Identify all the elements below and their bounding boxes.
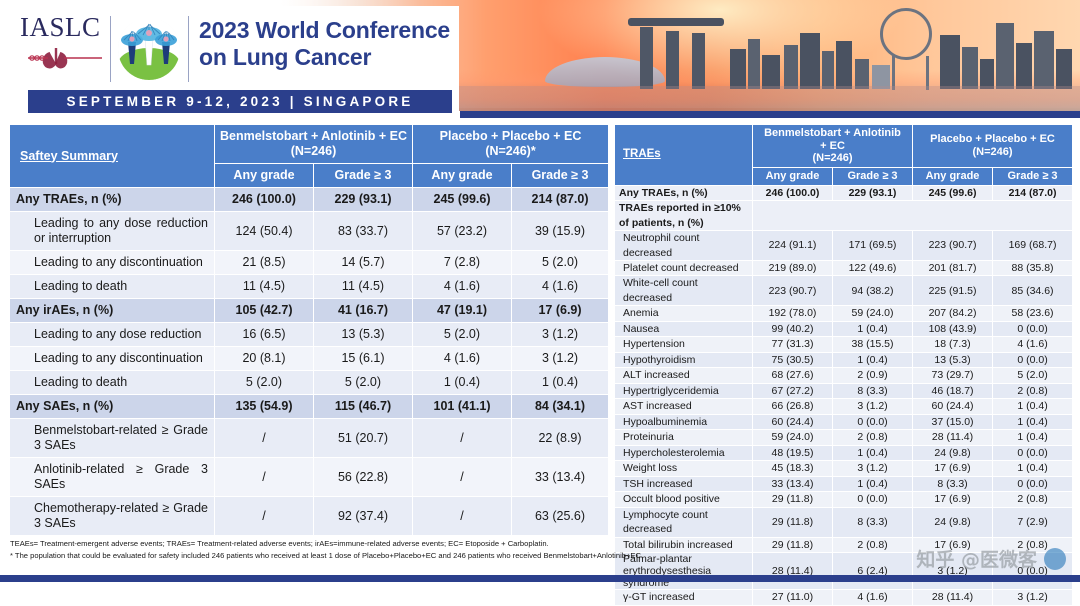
safety-subheader-3: Grade ≥ 3 xyxy=(512,164,609,188)
cell-value: 3 (1.2) xyxy=(512,347,609,371)
cell-value: 56 (22.8) xyxy=(314,458,413,497)
logo-divider-1 xyxy=(110,16,111,82)
cell-value: 20 (8.1) xyxy=(215,347,314,371)
table-row: Leading to death5 (2.0)5 (2.0)1 (0.4)1 (… xyxy=(10,371,609,395)
safety-subheader-2: Any grade xyxy=(413,164,512,188)
cell-value: 4 (1.6) xyxy=(413,275,512,299)
cell-value: 0 (0.0) xyxy=(833,414,913,429)
row-label: Leading to any discontinuation xyxy=(10,347,215,371)
group-label-line2: (N=246) xyxy=(915,146,1070,159)
safety-summary-tbody: Any TRAEs, n (%)246 (100.0)229 (93.1)245… xyxy=(10,188,609,536)
mbs-tower-2 xyxy=(666,31,679,89)
logo-lockup: IASLC xyxy=(14,6,459,112)
group-label-line1: Benmelstobart + Anlotinib + EC xyxy=(218,129,409,144)
cell-value: 13 (5.3) xyxy=(314,323,413,347)
iaslc-logo: IASLC xyxy=(20,14,106,84)
cell-value: 246 (100.0) xyxy=(753,185,833,200)
cell-value: 83 (33.7) xyxy=(314,212,413,251)
cell-value: 105 (42.7) xyxy=(215,299,314,323)
cell-value: 8 (3.3) xyxy=(833,507,913,537)
cell-value: 1 (0.4) xyxy=(833,476,913,491)
group-label-line1: Benmelstobart + Anlotinib xyxy=(755,127,910,140)
safety-subheader-1: Grade ≥ 3 xyxy=(314,164,413,188)
row-label: Chemotherapy-related ≥ Grade 3 SAEs xyxy=(10,497,215,536)
row-label: Leading to any discontinuation xyxy=(10,251,215,275)
skyline-building xyxy=(822,51,834,89)
cell-value: 59 (24.0) xyxy=(753,430,833,445)
traes-row-header: TRAEs xyxy=(615,125,753,186)
cell-value: 2 (0.8) xyxy=(993,383,1073,398)
skyline-building xyxy=(980,59,994,89)
skyline-building xyxy=(996,23,1014,89)
conference-title-line1: 2023 World Conference xyxy=(199,17,450,44)
traes-subheader-1: Grade ≥ 3 xyxy=(833,167,913,185)
cell-value: 13 (5.3) xyxy=(913,352,993,367)
cell-value: 224 (91.1) xyxy=(753,231,833,261)
cell-value: 101 (41.1) xyxy=(413,395,512,419)
cell-value: 245 (99.6) xyxy=(913,185,993,200)
cell-value: 7 (2.9) xyxy=(993,507,1073,537)
cell-value: 207 (84.2) xyxy=(913,306,993,321)
row-label: Hypothyroidism xyxy=(615,352,753,367)
iaslc-lung-mark xyxy=(26,44,106,74)
traes-group-benmelstobart: Benmelstobart + Anlotinib + EC (N=246) xyxy=(753,125,913,168)
mbs-skypark xyxy=(628,18,724,26)
cell-value: 77 (31.3) xyxy=(753,337,833,352)
conference-title: 2023 World Conference on Lung Cancer xyxy=(199,17,450,70)
row-label: Hypoalbuminemia xyxy=(615,414,753,429)
skyline-building xyxy=(800,33,820,89)
table-row: Leading to death11 (4.5)11 (4.5)4 (1.6)4… xyxy=(10,275,609,299)
cell-value: 214 (87.0) xyxy=(512,188,609,212)
cell-value: 169 (68.7) xyxy=(993,231,1073,261)
row-label: Hypertriglyceridemia xyxy=(615,383,753,398)
row-label: Occult blood positive xyxy=(615,492,753,507)
cell-value: 2 (0.8) xyxy=(833,430,913,445)
cell-value: 29 (11.8) xyxy=(753,492,833,507)
cell-value: 60 (24.4) xyxy=(753,414,833,429)
cell-value: 75 (30.5) xyxy=(753,352,833,367)
traes-row-header-label: TRAEs xyxy=(623,148,661,160)
cell-value: 11 (4.5) xyxy=(314,275,413,299)
cell-value: 8 (3.3) xyxy=(913,476,993,491)
table-row: Platelet count decreased219 (89.0)122 (4… xyxy=(615,260,1073,275)
cell-value: 135 (54.9) xyxy=(215,395,314,419)
cell-value: 5 (2.0) xyxy=(413,323,512,347)
safety-summary-group-placebo: Placebo + Placebo + EC (N=246)* xyxy=(413,125,609,164)
skyline-building xyxy=(748,39,760,89)
cell-value: 108 (43.9) xyxy=(913,321,993,336)
row-label: TRAEs reported in ≥10% of patients, n (%… xyxy=(615,201,753,231)
safety-summary-row-header: Saftey Summary xyxy=(10,125,215,188)
row-label: Leading to death xyxy=(10,371,215,395)
table-row: Leading to any discontinuation20 (8.1)15… xyxy=(10,347,609,371)
cell-value: 18 (7.3) xyxy=(913,337,993,352)
skyline-building xyxy=(836,41,852,89)
cell-value: 2 (0.8) xyxy=(993,492,1073,507)
cell-value: 67 (27.2) xyxy=(753,383,833,398)
cell-value: 33 (13.4) xyxy=(753,476,833,491)
cell-value: 4 (1.6) xyxy=(833,590,913,605)
table-row: ALT increased68 (27.6)2 (0.9)73 (29.7)5 … xyxy=(615,368,1073,383)
flyer-leg xyxy=(892,56,895,90)
cell-value: 4 (1.6) xyxy=(512,275,609,299)
cell-value: / xyxy=(413,419,512,458)
table-row: AST increased66 (26.8)3 (1.2)60 (24.4)1 … xyxy=(615,399,1073,414)
cell-value: 37 (15.0) xyxy=(913,414,993,429)
iaslc-acronym: IASLC xyxy=(20,14,106,41)
row-label: TSH increased xyxy=(615,476,753,491)
singapore-flyer-icon xyxy=(880,8,932,60)
row-label: Benmelstobart-related ≥ Grade 3 SAEs xyxy=(10,419,215,458)
cell-value: 16 (6.5) xyxy=(215,323,314,347)
cell-value: 3 (1.2) xyxy=(512,323,609,347)
cell-value: 57 (23.2) xyxy=(413,212,512,251)
row-label: Anlotinib-related ≥ Grade 3 SAEs xyxy=(10,458,215,497)
cell-value: 68 (27.6) xyxy=(753,368,833,383)
row-label: Platelet count decreased xyxy=(615,260,753,275)
cell-value: 4 (1.6) xyxy=(993,337,1073,352)
cell-value: 1 (0.4) xyxy=(833,352,913,367)
table-row: Any TRAEs, n (%)246 (100.0)229 (93.1)245… xyxy=(10,188,609,212)
row-label: Anemia xyxy=(615,306,753,321)
cell-value: 0 (0.0) xyxy=(993,445,1073,460)
cell-value: 0 (0.0) xyxy=(993,476,1073,491)
row-label: AST increased xyxy=(615,399,753,414)
cell-value: 45 (18.3) xyxy=(753,461,833,476)
page-bottom-rule xyxy=(0,575,1080,582)
cell-value: 22 (8.9) xyxy=(512,419,609,458)
cell-value: 94 (38.2) xyxy=(833,276,913,306)
table-row: Any irAEs, n (%)105 (42.7)41 (16.7)47 (1… xyxy=(10,299,609,323)
group-label-line3: (N=246) xyxy=(755,152,910,165)
table-row: Hypercholesterolemia48 (19.5)1 (0.4)24 (… xyxy=(615,445,1073,460)
traes-group-header-row: TRAEs Benmelstobart + Anlotinib + EC (N=… xyxy=(615,125,1073,168)
group-label-line1: Placebo + Placebo + EC xyxy=(416,129,605,144)
group-label-line2: (N=246) xyxy=(218,144,409,159)
table-row: Benmelstobart-related ≥ Grade 3 SAEs/51 … xyxy=(10,419,609,458)
row-label: Hypercholesterolemia xyxy=(615,445,753,460)
cell-value: 229 (93.1) xyxy=(314,188,413,212)
cell-value: 28 (11.4) xyxy=(913,430,993,445)
conference-title-line2: on Lung Cancer xyxy=(199,44,450,71)
cell-value: / xyxy=(215,458,314,497)
cell-value: 122 (49.6) xyxy=(833,260,913,275)
skyline-building xyxy=(1016,43,1032,89)
skyline-building xyxy=(1056,49,1072,89)
row-label: Lymphocyte count decreased xyxy=(615,507,753,537)
row-label: Proteinuria xyxy=(615,430,753,445)
cell-value: 1 (0.4) xyxy=(833,445,913,460)
cell-value: 115 (46.7) xyxy=(314,395,413,419)
row-label: γ-GT increased xyxy=(615,590,753,605)
cell-value: 8 (3.3) xyxy=(833,383,913,398)
skyline-building xyxy=(762,55,780,89)
cell-value: 1 (0.4) xyxy=(833,321,913,336)
cell-value: 60 (24.4) xyxy=(913,399,993,414)
row-label: Hypertension xyxy=(615,337,753,352)
cell-value: 5 (2.0) xyxy=(993,368,1073,383)
group-label-line1: Placebo + Placebo + EC xyxy=(915,133,1070,146)
cell-value: 1 (0.4) xyxy=(512,371,609,395)
cell-value: 15 (6.1) xyxy=(314,347,413,371)
footnote-population: * The population that could be evaluated… xyxy=(10,550,1070,562)
cell-value: 5 (2.0) xyxy=(512,251,609,275)
cell-value: 48 (19.5) xyxy=(753,445,833,460)
cell-value: 51 (20.7) xyxy=(314,419,413,458)
cell-value: 0 (0.0) xyxy=(993,352,1073,367)
group-label-line2: (N=246)* xyxy=(416,144,605,159)
cell-value: 41 (16.7) xyxy=(314,299,413,323)
cell-value: 17 (6.9) xyxy=(913,492,993,507)
skyline-building xyxy=(784,45,798,89)
table-row: Hypertriglyceridemia67 (27.2)8 (3.3)46 (… xyxy=(615,383,1073,398)
cell-value: 88 (35.8) xyxy=(993,260,1073,275)
safety-summary-table: Saftey Summary Benmelstobart + Anlotinib… xyxy=(9,124,609,536)
table-row: TRAEs reported in ≥10% of patients, n (%… xyxy=(615,201,1073,231)
safety-summary-row-header-label: Saftey Summary xyxy=(20,149,118,163)
cell-value: 223 (90.7) xyxy=(753,276,833,306)
cell-value: 85 (34.6) xyxy=(993,276,1073,306)
cell-value: 99 (40.2) xyxy=(753,321,833,336)
cell-value: 28 (11.4) xyxy=(913,590,993,605)
row-label: White-cell count decreased xyxy=(615,276,753,306)
cell-value: 63 (25.6) xyxy=(512,497,609,536)
traes-subheader-2: Any grade xyxy=(913,167,993,185)
cell-value: 33 (13.4) xyxy=(512,458,609,497)
table-row: Lymphocyte count decreased29 (11.8)8 (3.… xyxy=(615,507,1073,537)
table-row: Leading to any discontinuation21 (8.5)14… xyxy=(10,251,609,275)
cell-value: 124 (50.4) xyxy=(215,212,314,251)
cell-value: 225 (91.5) xyxy=(913,276,993,306)
cell-value: 229 (93.1) xyxy=(833,185,913,200)
cell-value: 17 (6.9) xyxy=(512,299,609,323)
safety-subheader-0: Any grade xyxy=(215,164,314,188)
tables-region: Saftey Summary Benmelstobart + Anlotinib… xyxy=(0,118,1080,538)
table-row: Anlotinib-related ≥ Grade 3 SAEs/56 (22.… xyxy=(10,458,609,497)
table-row: Any TRAEs, n (%)246 (100.0)229 (93.1)245… xyxy=(615,185,1073,200)
cell-value: 2 (0.9) xyxy=(833,368,913,383)
traes-subheader-0: Any grade xyxy=(753,167,833,185)
skyline-building xyxy=(1034,31,1054,89)
cell-value: 11 (4.5) xyxy=(215,275,314,299)
cell-value: 27 (11.0) xyxy=(753,590,833,605)
cell-value: 38 (15.5) xyxy=(833,337,913,352)
footnote-abbreviations: TEAEs= Treatment-emergent adverse events… xyxy=(10,538,1070,550)
row-label: Any SAEs, n (%) xyxy=(10,395,215,419)
row-label: Any irAEs, n (%) xyxy=(10,299,215,323)
cell-value: 1 (0.4) xyxy=(993,461,1073,476)
skyline-building xyxy=(962,47,978,89)
cell-value: 5 (2.0) xyxy=(314,371,413,395)
cell-value: 3 (1.2) xyxy=(833,399,913,414)
row-label: Neutrophil count decreased xyxy=(615,231,753,261)
cell-value: 1 (0.4) xyxy=(993,399,1073,414)
cell-value: 39 (15.9) xyxy=(512,212,609,251)
table-row: Nausea99 (40.2)1 (0.4)108 (43.9)0 (0.0) xyxy=(615,321,1073,336)
cell-value: 1 (0.4) xyxy=(993,430,1073,445)
flyer-leg xyxy=(926,56,929,90)
cell-value: 0 (0.0) xyxy=(993,321,1073,336)
skyline-building xyxy=(855,59,869,89)
cell-value: 1 (0.4) xyxy=(413,371,512,395)
row-label: Leading to death xyxy=(10,275,215,299)
cell-value: 73 (29.7) xyxy=(913,368,993,383)
cell-value: 14 (5.7) xyxy=(314,251,413,275)
table-row: Chemotherapy-related ≥ Grade 3 SAEs/92 (… xyxy=(10,497,609,536)
cell-value: 59 (24.0) xyxy=(833,306,913,321)
cell-value: 84 (34.1) xyxy=(512,395,609,419)
table-row: Hypertension77 (31.3)38 (15.5)18 (7.3)4 … xyxy=(615,337,1073,352)
cell-value: 214 (87.0) xyxy=(993,185,1073,200)
mbs-tower-1 xyxy=(640,27,653,89)
supertree-grove-logo-icon xyxy=(118,18,180,80)
cell-value: 17 (6.9) xyxy=(913,461,993,476)
date-location-bar: SEPTEMBER 9-12, 2023 | SINGAPORE xyxy=(28,90,452,113)
footnotes: TEAEs= Treatment-emergent adverse events… xyxy=(10,538,1070,562)
cell-value: 47 (19.1) xyxy=(413,299,512,323)
cell-value: 1 (0.4) xyxy=(993,414,1073,429)
cell-value: 46 (18.7) xyxy=(913,383,993,398)
table-row: Leading to any dose reduction or interru… xyxy=(10,212,609,251)
cell-value: / xyxy=(413,458,512,497)
table-row: Occult blood positive29 (11.8)0 (0.0)17 … xyxy=(615,492,1073,507)
cell-value: 4 (1.6) xyxy=(413,347,512,371)
cell-value: 29 (11.8) xyxy=(753,507,833,537)
logo-divider-2 xyxy=(188,16,189,82)
traes-group-placebo: Placebo + Placebo + EC (N=246) xyxy=(913,125,1073,168)
cell-value: 7 (2.8) xyxy=(413,251,512,275)
table-row: Weight loss45 (18.3)3 (1.2)17 (6.9)1 (0.… xyxy=(615,461,1073,476)
table-row: Anemia192 (78.0)59 (24.0)207 (84.2)58 (2… xyxy=(615,306,1073,321)
cell-value: 192 (78.0) xyxy=(753,306,833,321)
cell-value: 3 (1.2) xyxy=(993,590,1073,605)
cell-value: 0 (0.0) xyxy=(833,492,913,507)
row-label: Nausea xyxy=(615,321,753,336)
cell-value: 66 (26.8) xyxy=(753,399,833,414)
row-label: Leading to any dose reduction xyxy=(10,323,215,347)
cell-value: 246 (100.0) xyxy=(215,188,314,212)
table-row: γ-GT increased27 (11.0)4 (1.6)28 (11.4)3… xyxy=(615,590,1073,605)
cell-value xyxy=(753,201,1073,231)
cell-value: 24 (9.8) xyxy=(913,507,993,537)
cell-value: 58 (23.6) xyxy=(993,306,1073,321)
cell-value: 3 (1.2) xyxy=(833,461,913,476)
group-label-line2: + EC xyxy=(755,140,910,153)
row-label: Any TRAEs, n (%) xyxy=(10,188,215,212)
safety-summary-group-benmelstobart: Benmelstobart + Anlotinib + EC (N=246) xyxy=(215,125,413,164)
table-row: Leading to any dose reduction16 (6.5)13 … xyxy=(10,323,609,347)
cell-value: / xyxy=(413,497,512,536)
cell-value: 201 (81.7) xyxy=(913,260,993,275)
cell-value: 21 (8.5) xyxy=(215,251,314,275)
table-row: Hypothyroidism75 (30.5)1 (0.4)13 (5.3)0 … xyxy=(615,352,1073,367)
supertree-svg xyxy=(118,18,180,80)
traes-table: TRAEs Benmelstobart + Anlotinib + EC (N=… xyxy=(614,124,1073,606)
safety-summary-group-header-row: Saftey Summary Benmelstobart + Anlotinib… xyxy=(10,125,609,164)
cell-value: 223 (90.7) xyxy=(913,231,993,261)
cell-value: 92 (37.4) xyxy=(314,497,413,536)
row-label: Any TRAEs, n (%) xyxy=(615,185,753,200)
mbs-tower-3 xyxy=(692,33,705,89)
safety-summary-thead: Saftey Summary Benmelstobart + Anlotinib… xyxy=(10,125,609,188)
cell-value: 219 (89.0) xyxy=(753,260,833,275)
row-label: ALT increased xyxy=(615,368,753,383)
table-row: TSH increased33 (13.4)1 (0.4)8 (3.3)0 (0… xyxy=(615,476,1073,491)
traes-subheader-3: Grade ≥ 3 xyxy=(993,167,1073,185)
skyline-building xyxy=(940,35,960,89)
cell-value: / xyxy=(215,419,314,458)
table-row: Proteinuria59 (24.0)2 (0.8)28 (11.4)1 (0… xyxy=(615,430,1073,445)
cell-value: 5 (2.0) xyxy=(215,371,314,395)
conference-banner: IASLC xyxy=(0,0,1080,118)
cell-value: 24 (9.8) xyxy=(913,445,993,460)
cell-value: / xyxy=(215,497,314,536)
table-row: Neutrophil count decreased224 (91.1)171 … xyxy=(615,231,1073,261)
table-row: Hypoalbuminemia60 (24.4)0 (0.0)37 (15.0)… xyxy=(615,414,1073,429)
row-label: Weight loss xyxy=(615,461,753,476)
cell-value: 171 (69.5) xyxy=(833,231,913,261)
row-label: Leading to any dose reduction or interru… xyxy=(10,212,215,251)
traes-thead: TRAEs Benmelstobart + Anlotinib + EC (N=… xyxy=(615,125,1073,186)
skyline-building xyxy=(730,49,746,89)
table-row: White-cell count decreased223 (90.7)94 (… xyxy=(615,276,1073,306)
table-row: Any SAEs, n (%)135 (54.9)115 (46.7)101 (… xyxy=(10,395,609,419)
cell-value: 245 (99.6) xyxy=(413,188,512,212)
